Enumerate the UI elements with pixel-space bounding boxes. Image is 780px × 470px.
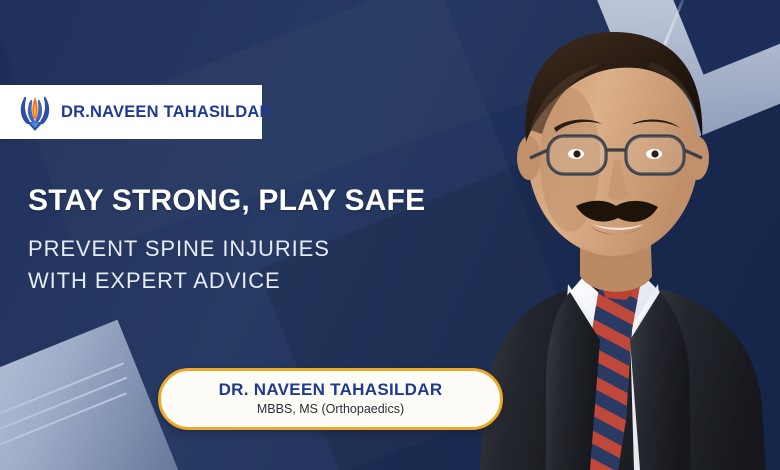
hero-subline-2: WITH EXPERT ADVICE	[28, 265, 498, 296]
promotional-banner: DR.NAVEEN TAHASILDAR STAY STRONG, PLAY S…	[0, 0, 780, 470]
doctor-qualification: MBBS, MS (Orthopaedics)	[257, 403, 404, 417]
hero-subline-1: PREVENT SPINE INJURIES	[28, 233, 498, 264]
spine-flame-logo-icon	[18, 92, 52, 132]
hero-copy: STAY STRONG, PLAY SAFE PREVENT SPINE INJ…	[28, 185, 498, 296]
doctor-name-badge: DR. NAVEEN TAHASILDAR MBBS, MS (Orthopae…	[158, 368, 503, 430]
doctor-name: DR. NAVEEN TAHASILDAR	[219, 381, 443, 400]
brand-name-text: DR.NAVEEN TAHASILDAR	[61, 103, 272, 122]
hero-headline: STAY STRONG, PLAY SAFE	[28, 185, 498, 217]
brand-logo-bar[interactable]: DR.NAVEEN TAHASILDAR	[0, 85, 262, 139]
